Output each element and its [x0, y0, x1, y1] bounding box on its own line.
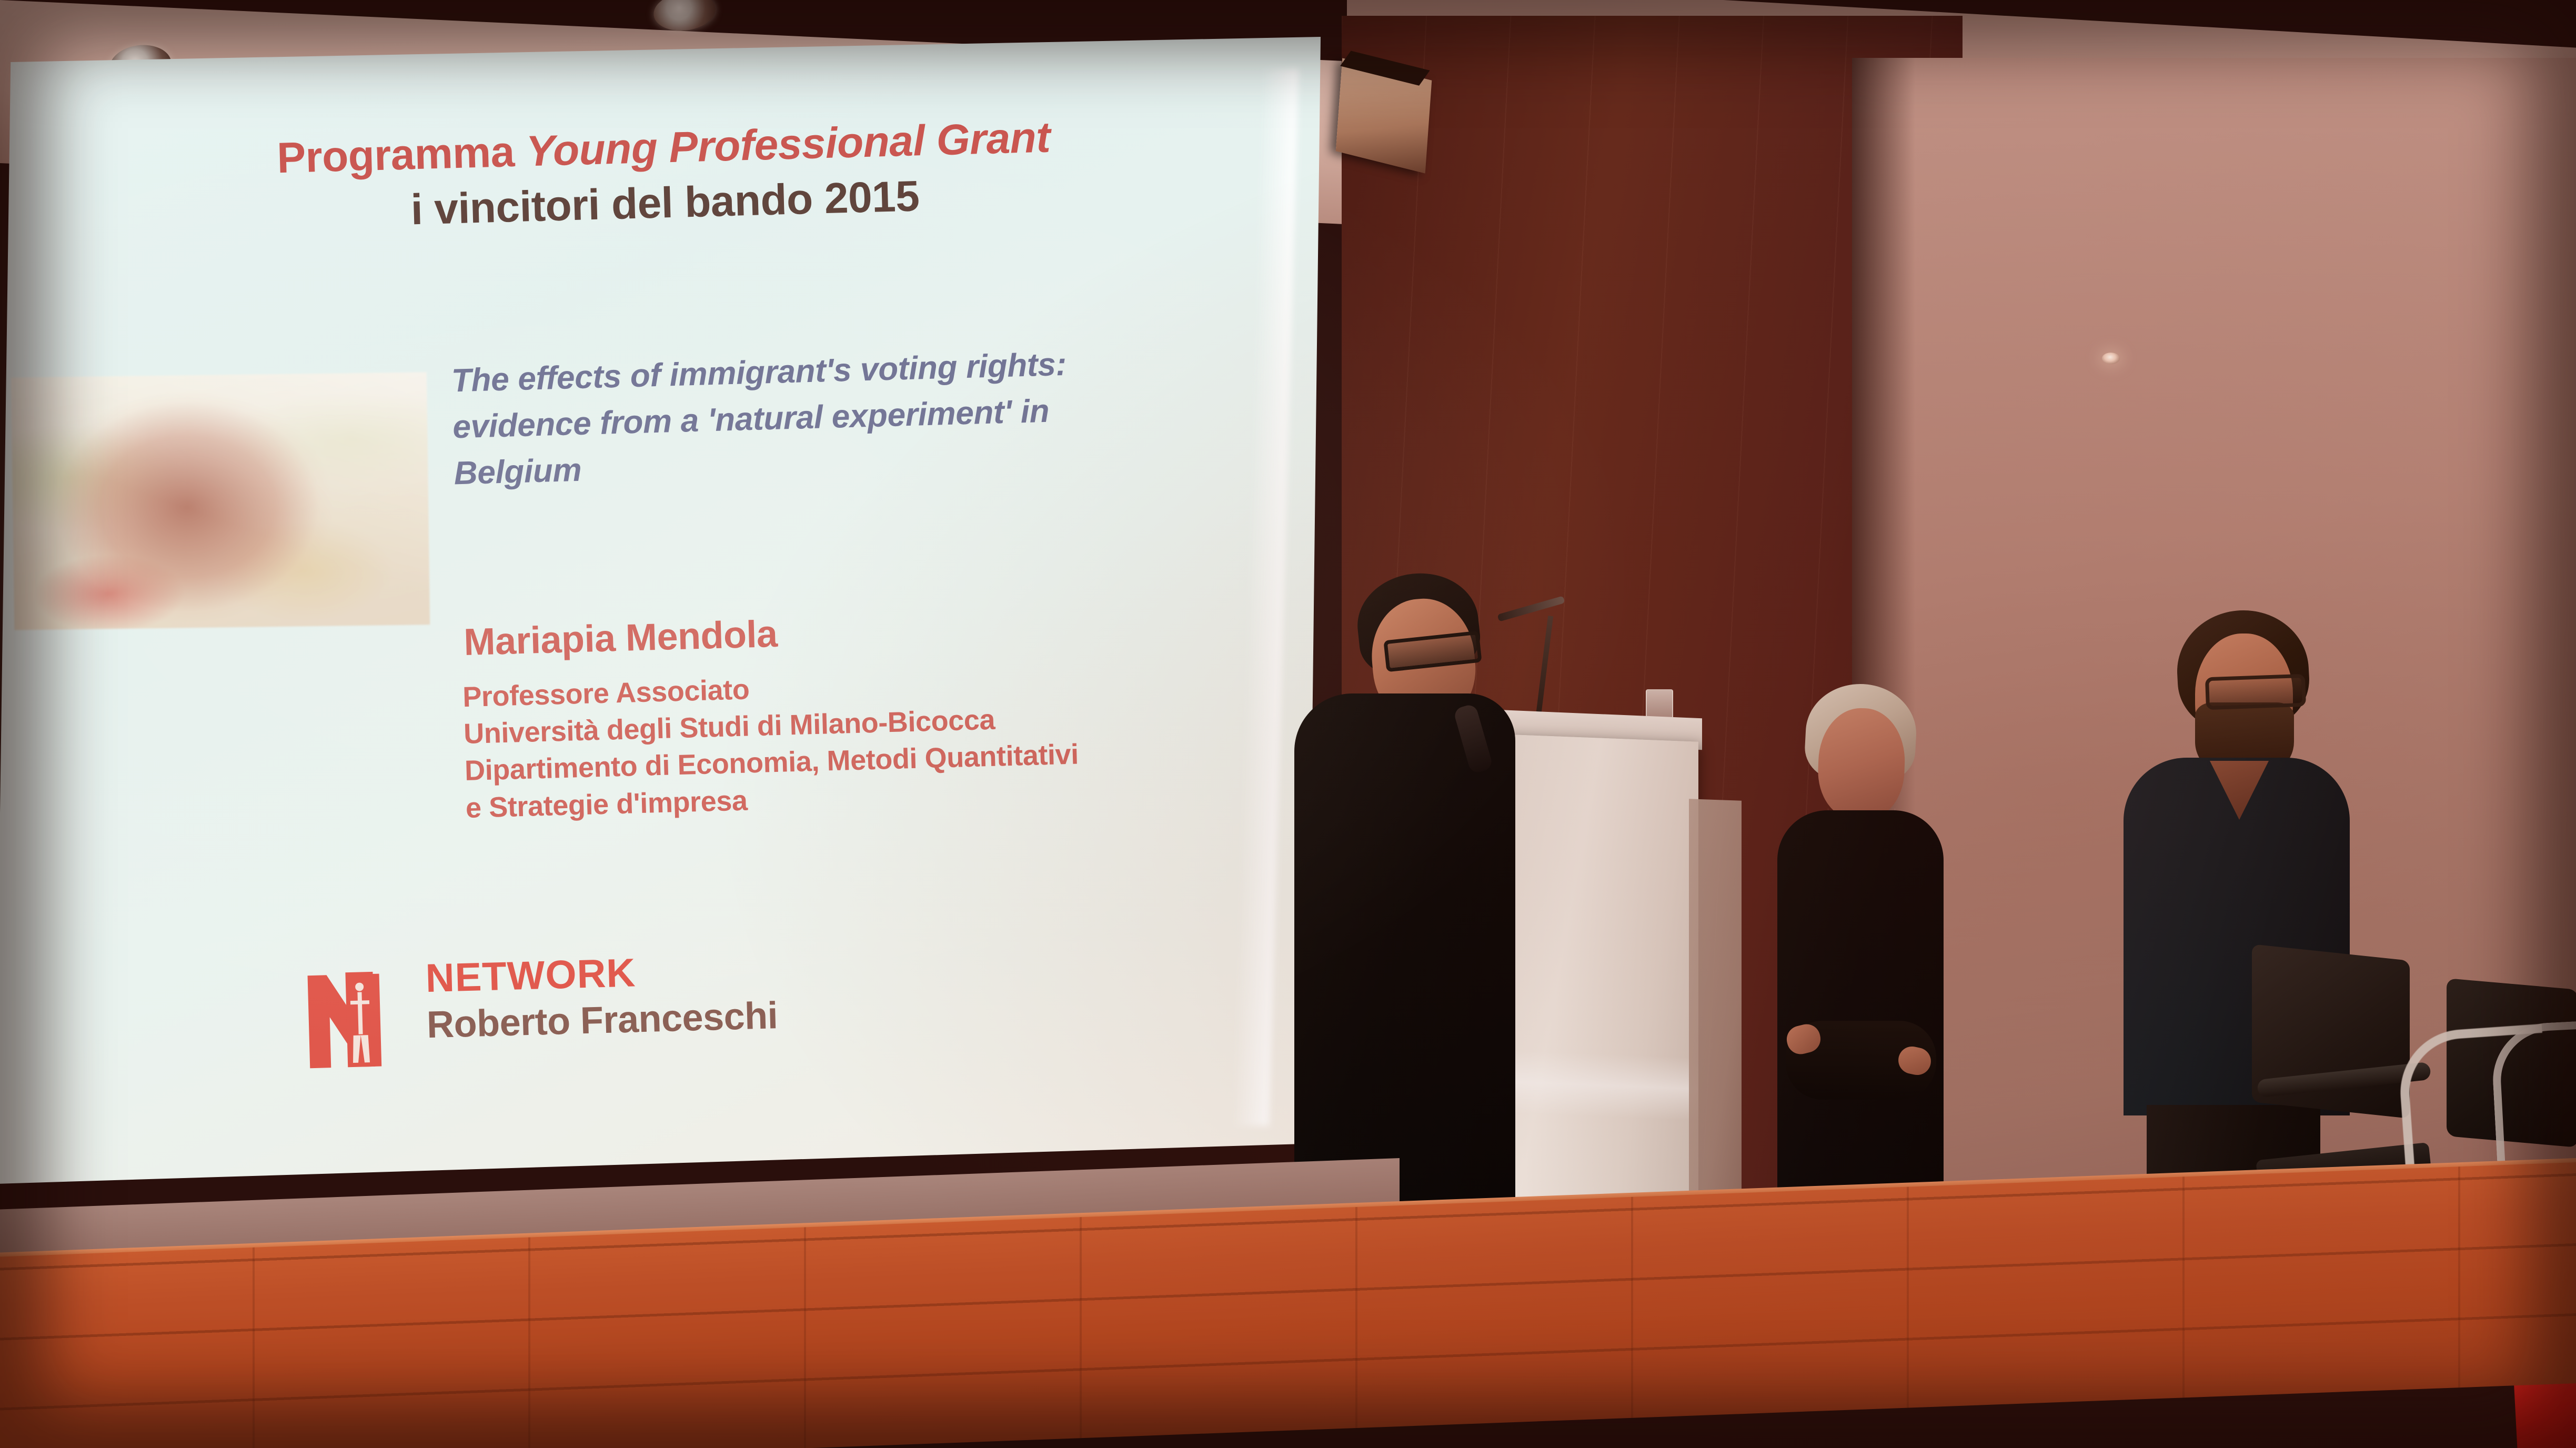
logo-wordmark: NETWORK Roberto Franceschi: [425, 949, 778, 1044]
network-franceschi-logo: NETWORK Roberto Franceschi: [299, 945, 933, 1083]
slide-title: Programma Young Professional Grant i vin…: [71, 105, 1257, 247]
logo-franceschi-text: Roberto Franceschi: [426, 997, 778, 1044]
slide-affiliation: Professore Associato Università degli St…: [462, 656, 1329, 827]
logo-network-text: NETWORK: [425, 949, 777, 999]
slide-abstract-text: The effects of immigrant's voting rights…: [451, 339, 1160, 497]
ceiling-spotlight-icon: [651, 0, 718, 34]
presentation-slide: Programma Young Professional Grant i vin…: [0, 19, 1336, 1201]
slide-title-line1-part2: Young Professional Grant: [526, 114, 1051, 176]
network-n-mark-icon: [299, 964, 407, 1072]
slide-speaker-name: Mariapia Mendola: [463, 612, 778, 664]
glasses-icon: [2205, 674, 2306, 710]
conference-stage-photo: Programma Young Professional Grant i vin…: [0, 0, 2576, 1448]
projection-screen: Programma Young Professional Grant i vin…: [0, 37, 1352, 1226]
speaker-portrait-photo: [11, 372, 430, 630]
slide-title-line1-part1: Programma: [276, 127, 527, 182]
wall-sconce-icon: [2102, 353, 2120, 364]
